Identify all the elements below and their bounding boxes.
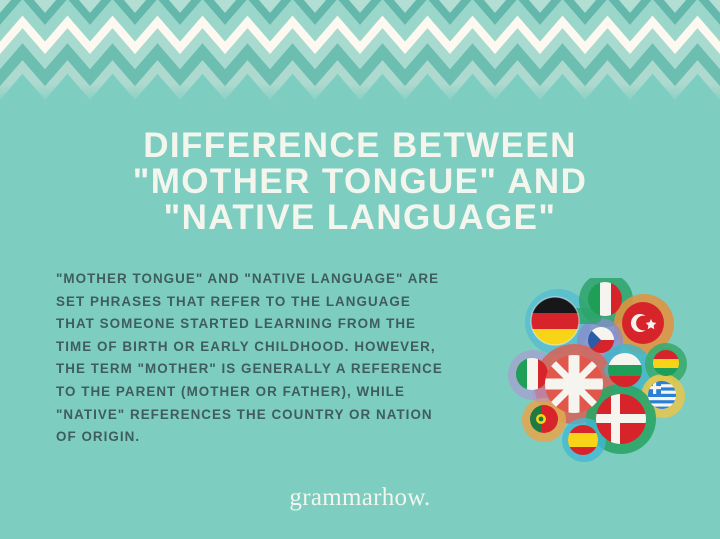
- chevron-pattern-banner: [0, 0, 720, 110]
- world-flags-cluster-illustration: [508, 278, 698, 464]
- turkey-flag-icon: [622, 302, 664, 344]
- portugal-flag-icon: [530, 405, 558, 433]
- body-line-8: OF ORIGIN.: [56, 426, 508, 449]
- spain-flag-icon: [568, 425, 598, 455]
- title-line-3: "NATIVE LANGUAGE": [0, 200, 720, 236]
- brand-logo-text: grammarhow.: [289, 484, 430, 511]
- greece-flag-icon: [648, 381, 676, 409]
- title-line-2: "MOTHER TONGUE" AND: [0, 164, 720, 200]
- body-line-5: THE TERM "MOTHER" IS GENERALLY A REFEREN…: [56, 358, 508, 381]
- body-line-6: TO THE PARENT (MOTHER OR FATHER), WHILE: [56, 381, 508, 404]
- page-title: DIFFERENCE BETWEEN "MOTHER TONGUE" AND "…: [0, 128, 720, 236]
- title-line-1: DIFFERENCE BETWEEN: [0, 128, 720, 164]
- brand-logo: grammarhow.: [0, 484, 720, 512]
- czechia-flag-icon: [588, 327, 614, 353]
- body-line-3: THAT SOMEONE STARTED LEARNING FROM THE: [56, 313, 508, 336]
- infographic-poster: DIFFERENCE BETWEEN "MOTHER TONGUE" AND "…: [0, 0, 720, 539]
- body-line-1: "MOTHER TONGUE" AND "NATIVE LANGUAGE" AR…: [56, 268, 508, 291]
- body-line-7: "NATIVE" REFERENCES THE COUNTRY OR NATIO…: [56, 404, 508, 427]
- denmark-flag-icon: [596, 394, 646, 444]
- body-paragraph: "MOTHER TONGUE" AND "NATIVE LANGUAGE" AR…: [56, 268, 508, 449]
- uk-flag-icon: [545, 355, 603, 413]
- body-line-4: TIME OF BIRTH OR EARLY CHILDHOOD. HOWEVE…: [56, 336, 508, 359]
- body-line-2: SET PHRASES THAT REFER TO THE LANGUAGE: [56, 291, 508, 314]
